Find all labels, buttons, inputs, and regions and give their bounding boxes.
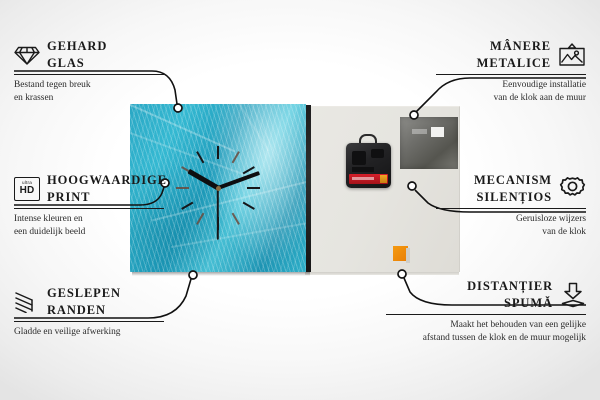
feature-head: MECANISM SILENȚIOS <box>436 172 586 205</box>
down-arrow-plate-icon <box>560 282 586 308</box>
feature-title: HOOGWAARDIGE PRINT <box>47 172 167 205</box>
feature-description: Bestand tegen breuk en krassen <box>14 79 164 106</box>
hand-pin <box>216 186 221 191</box>
feature-divider <box>14 74 164 75</box>
feature-divider <box>14 321 164 322</box>
plate-highlight-left <box>412 129 427 134</box>
feature-head: ultraHD HOOGWAARDIGE PRINT <box>14 172 164 205</box>
feature-divider <box>436 208 586 209</box>
ultra-hd-icon: ultraHD <box>14 177 40 201</box>
infographic-canvas: GEHARD GLAS Bestand tegen breuk en krass… <box>0 0 600 400</box>
feature-description: Gladde en veilige afwerking <box>14 326 164 339</box>
feature-description: Intense kleuren en een duidelijk beeld <box>14 213 164 240</box>
feature-description: Geruisloze wijzers van de klok <box>436 213 586 240</box>
battery <box>349 174 388 184</box>
mechanism-detail-c <box>352 167 374 172</box>
product-photo <box>130 104 460 276</box>
feature-head: GESLEPEN RANDEN <box>14 285 164 318</box>
diamond-icon <box>14 44 40 66</box>
feature-gehard-glas: GEHARD GLAS Bestand tegen breuk en krass… <box>14 38 164 106</box>
metal-wall-plate <box>400 117 458 169</box>
feature-title: GEHARD GLAS <box>47 38 107 71</box>
feature-head: DISTANȚIER SPUMĂ <box>386 278 586 311</box>
feature-hoogwaardige-print: ultraHD HOOGWAARDIGE PRINT Intense kleur… <box>14 172 164 240</box>
feature-divider <box>14 208 164 209</box>
feature-distantier-spuma: DISTANȚIER SPUMĂ Maakt het behouden van … <box>386 278 586 346</box>
feature-title: GESLEPEN RANDEN <box>47 285 121 318</box>
feature-head: GEHARD GLAS <box>14 38 164 71</box>
feature-mecanism-silentios: MECANISM SILENȚIOS Geruisloze wijzers va… <box>436 172 586 240</box>
foam-spacer <box>393 246 408 261</box>
feature-title: DISTANȚIER SPUMĂ <box>467 278 553 311</box>
mechanism-detail-a <box>352 151 366 165</box>
second-hand <box>217 188 219 240</box>
mechanism-detail-b <box>371 149 384 158</box>
feature-head: MÂNERE METALICE <box>436 38 586 71</box>
beveled-edges-icon <box>14 291 40 313</box>
feature-description: Eenvoudige installatie van de klok aan d… <box>436 79 586 106</box>
feature-title: MÂNERE METALICE <box>477 38 551 71</box>
feature-title: MECANISM SILENȚIOS <box>474 172 552 205</box>
clock-shadow <box>132 272 310 276</box>
feature-description: Maakt het behouden van een gelijke afsta… <box>386 319 586 346</box>
feature-geslepen-randen: GESLEPEN RANDEN Gladde en veilige afwerk… <box>14 285 164 339</box>
feature-manere-metalice: MÂNERE METALICE Eenvoudige installatie v… <box>436 38 586 106</box>
feature-divider <box>386 314 586 315</box>
feature-divider <box>436 74 586 75</box>
picture-frame-icon <box>558 43 586 67</box>
clock-side-edge <box>306 105 311 272</box>
gear-icon <box>559 176 586 202</box>
plate-highlight-right <box>431 127 444 137</box>
clock-mechanism <box>346 143 391 188</box>
